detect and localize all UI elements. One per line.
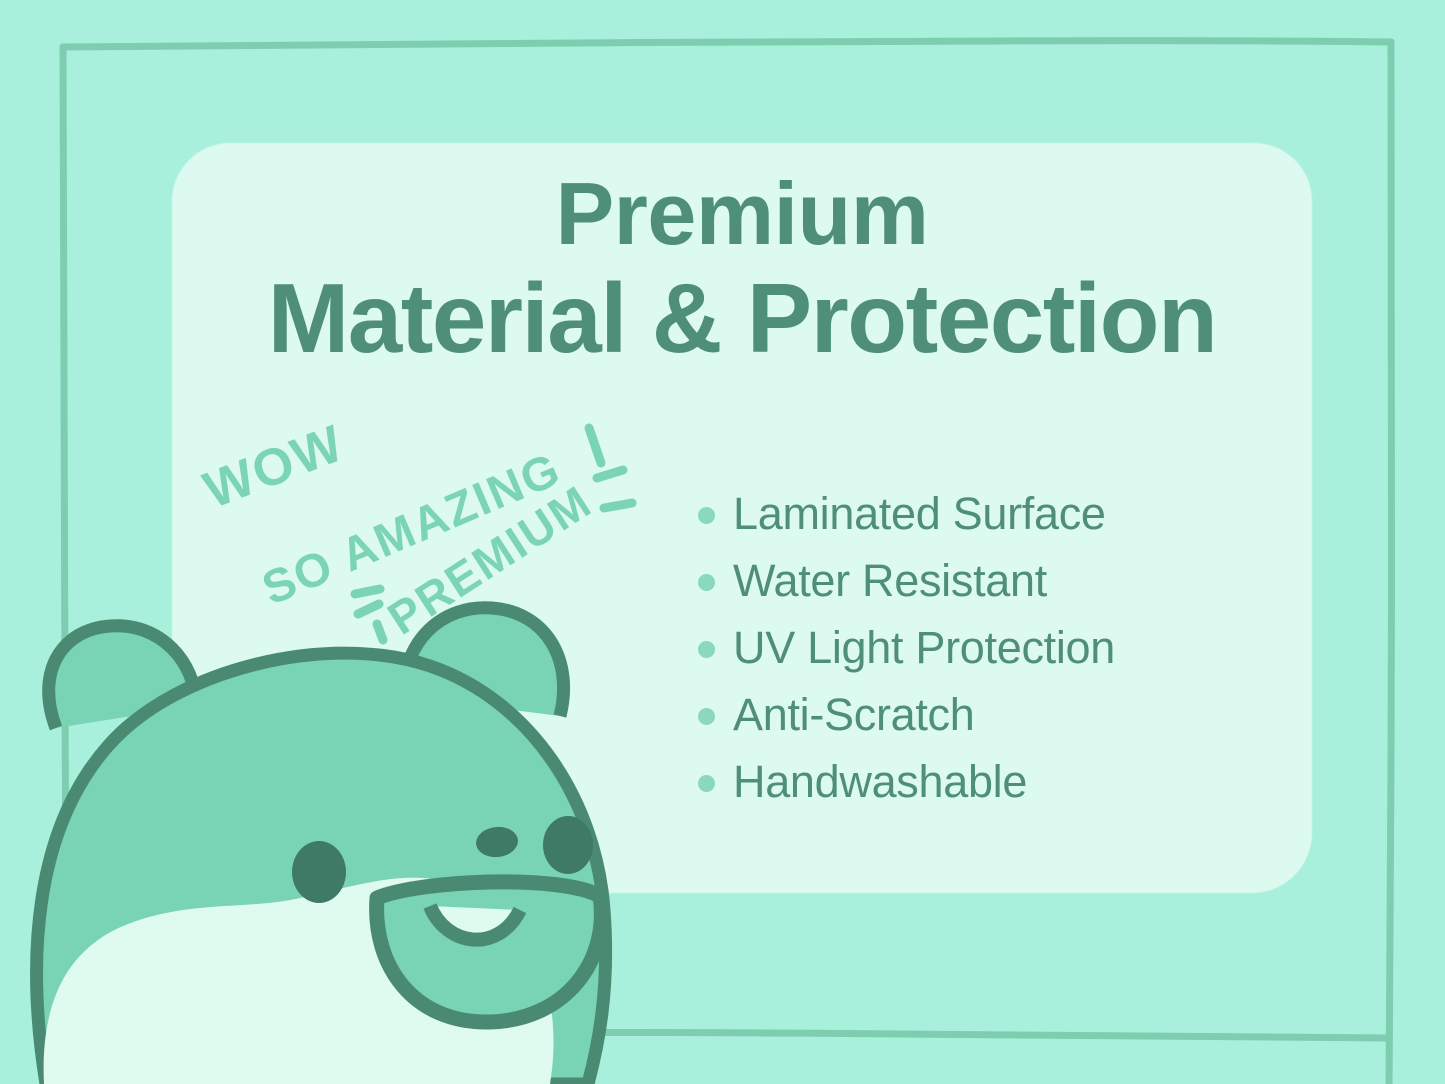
feature-list: Laminated Surface Water Resistant UV Lig… [698,484,1218,819]
feature-label: Handwashable [733,756,1027,808]
bear-eye-right [543,816,593,874]
bear-mouth [377,882,602,1022]
list-item: Anti-Scratch [698,685,1218,745]
bullet-icon [698,574,715,591]
bullet-icon [698,775,715,792]
bear-eye-left [292,841,346,903]
list-item: UV Light Protection [698,618,1218,678]
list-item: Handwashable [698,752,1218,812]
feature-label: Laminated Surface [733,488,1106,540]
bear-tooth [430,906,520,940]
list-item: Water Resistant [698,551,1218,611]
page-title-line1: Premium [172,168,1312,260]
feature-label: Anti-Scratch [733,689,974,741]
page-title-line2: Material & Protection [172,268,1312,370]
heading-block: Premium Material & Protection [172,168,1312,369]
poster-canvas: Premium Material & Protection Laminated … [0,0,1445,1084]
bullet-icon [698,641,715,658]
bullet-icon [698,507,715,524]
feature-label: Water Resistant [733,555,1047,607]
smiling-bear-mascot [0,580,700,1084]
list-item: Laminated Surface [698,484,1218,544]
bullet-icon [698,708,715,725]
feature-label: UV Light Protection [733,622,1115,674]
